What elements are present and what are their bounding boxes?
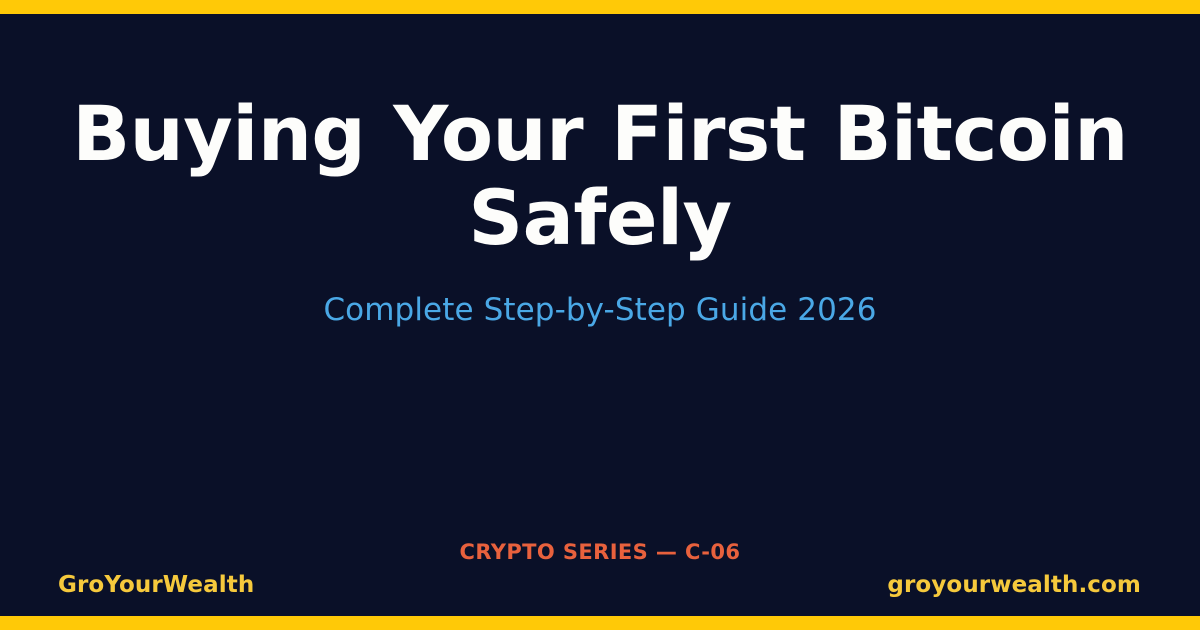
brand-name: GroYourWealth [58,570,254,600]
brand-url[interactable]: groyourwealth.com [887,570,1141,600]
page-title: Buying Your First Bitcoin Safely [58,92,1142,260]
footer: GroYourWealth groyourwealth.com [58,570,1141,600]
page-subtitle: Complete Step-by-Step Guide 2026 [58,260,1142,329]
top-accent-bar [0,0,1200,14]
hero-block: Buying Your First Bitcoin Safely Complet… [58,92,1142,329]
bottom-accent-bar [0,616,1200,630]
title-slide: Buying Your First Bitcoin Safely Complet… [0,0,1200,630]
series-badge: CRYPTO SERIES — C-06 [0,538,1200,566]
